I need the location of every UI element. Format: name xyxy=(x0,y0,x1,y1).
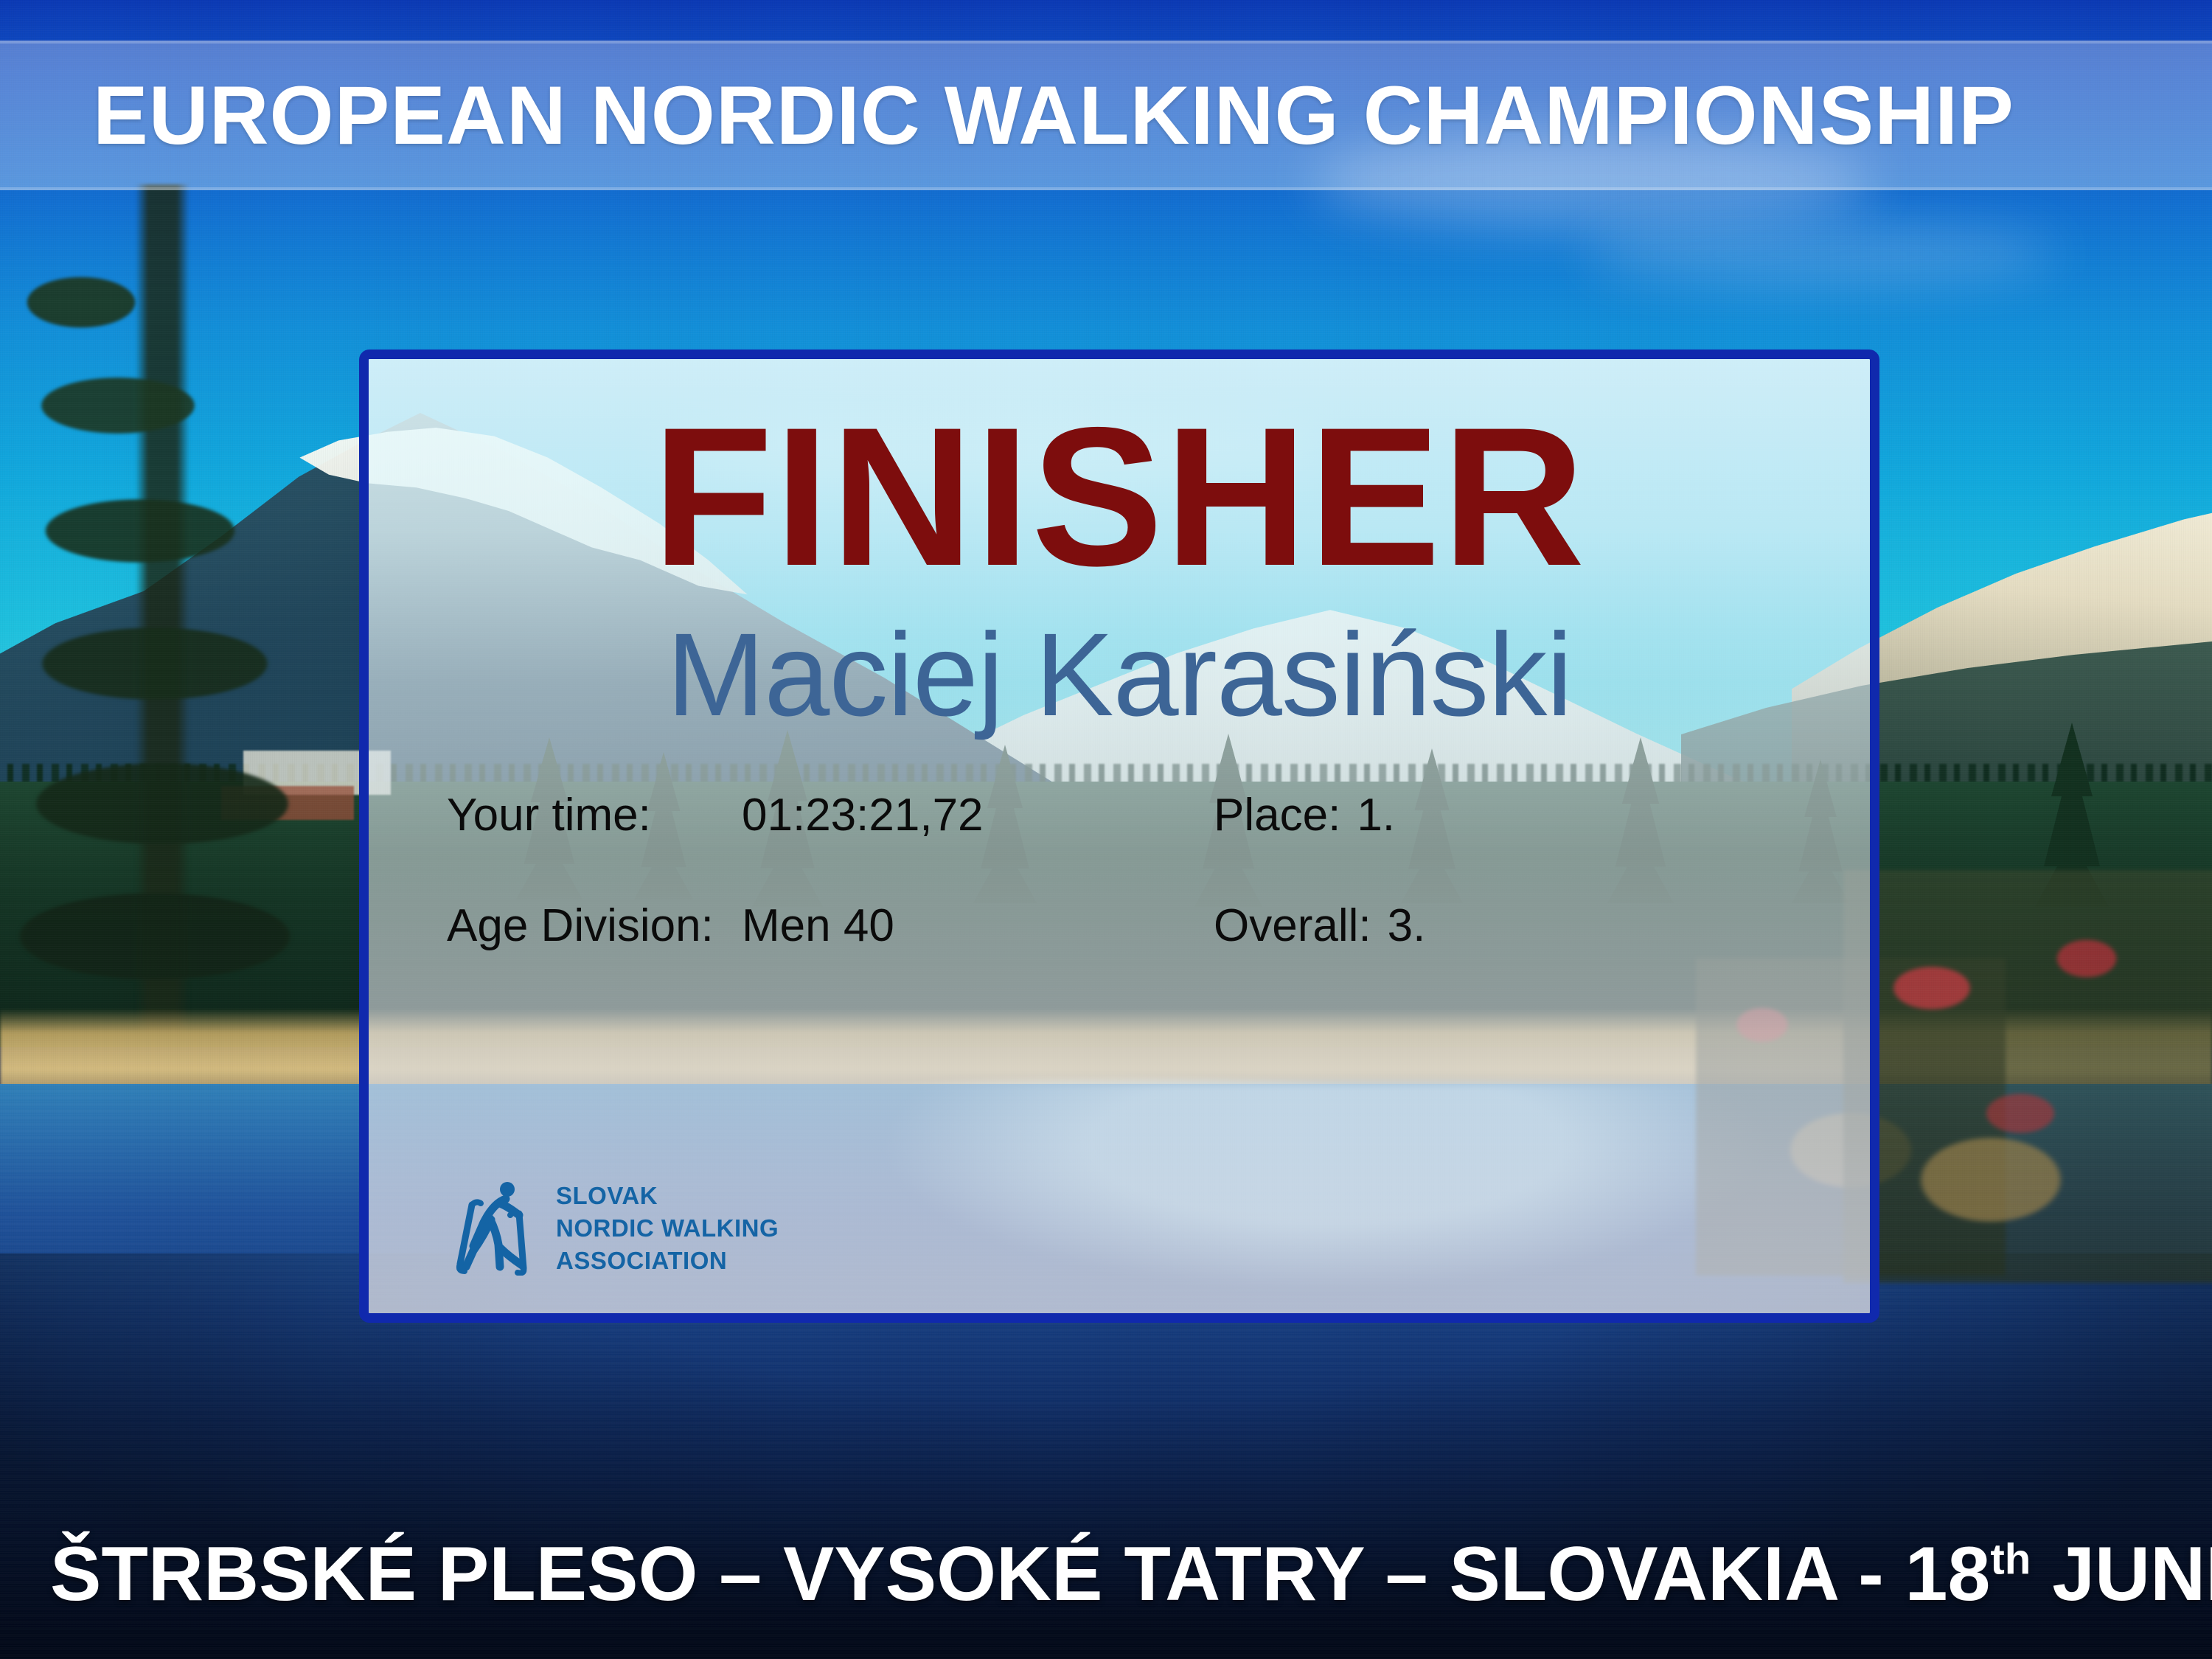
time-value: 01:23:21,72 xyxy=(742,793,1214,838)
place-value: 1. xyxy=(1357,793,1395,838)
event-location-date: ŠTRBSKÉ PLESO – VYSOKÉ TATRY – SLOVAKIA … xyxy=(50,1531,2212,1618)
stat-row-time: Your time: 01:23:21,72 Place: 1. xyxy=(447,793,1597,838)
autumn-bush-red xyxy=(1843,870,2212,1283)
finisher-heading: FINISHER xyxy=(369,397,1870,595)
association-logo: SLOVAK NORDIC WALKING ASSOCIATION xyxy=(454,1180,779,1278)
overall-label: Overall: xyxy=(1214,903,1371,949)
overall-value: 3. xyxy=(1388,903,1426,949)
age-division-value: Men 40 xyxy=(742,903,1214,949)
age-division-label: Age Division: xyxy=(447,903,742,949)
time-label: Your time: xyxy=(447,793,742,838)
championship-title: EUROPEAN NORDIC WALKING CHAMPIONSHIP xyxy=(93,68,2014,163)
athlete-name: Maciej Karasiński xyxy=(369,616,1870,734)
certificate-card: FINISHER Maciej Karasiński Your time: 01… xyxy=(359,349,1879,1323)
stat-row-division: Age Division: Men 40 Overall: 3. xyxy=(447,903,1597,949)
logo-line-2: NORDIC WALKING xyxy=(556,1212,779,1245)
logo-line-1: SLOVAK xyxy=(556,1180,779,1212)
foreground-larch-tree xyxy=(0,184,383,1032)
header-banner: EUROPEAN NORDIC WALKING CHAMPIONSHIP xyxy=(0,41,2212,190)
ordinal-suffix: th xyxy=(1990,1535,2031,1583)
association-name: SLOVAK NORDIC WALKING ASSOCIATION xyxy=(556,1180,779,1278)
logo-line-3: ASSOCIATION xyxy=(556,1245,779,1277)
footer-banner: ŠTRBSKÉ PLESO – VYSOKÉ TATRY – SLOVAKIA … xyxy=(0,1489,2212,1659)
nordic-walker-icon xyxy=(454,1181,540,1276)
location-date-prefix: ŠTRBSKÉ PLESO – VYSOKÉ TATRY – SLOVAKIA … xyxy=(50,1531,1990,1617)
cloud xyxy=(1585,221,2057,288)
location-date-suffix: JUNE 2016 xyxy=(2031,1531,2212,1617)
finisher-certificate-poster: EUROPEAN NORDIC WALKING CHAMPIONSHIP FIN… xyxy=(0,0,2212,1659)
place-label: Place: xyxy=(1214,793,1340,838)
result-stats: Your time: 01:23:21,72 Place: 1. Age Div… xyxy=(447,793,1597,1014)
